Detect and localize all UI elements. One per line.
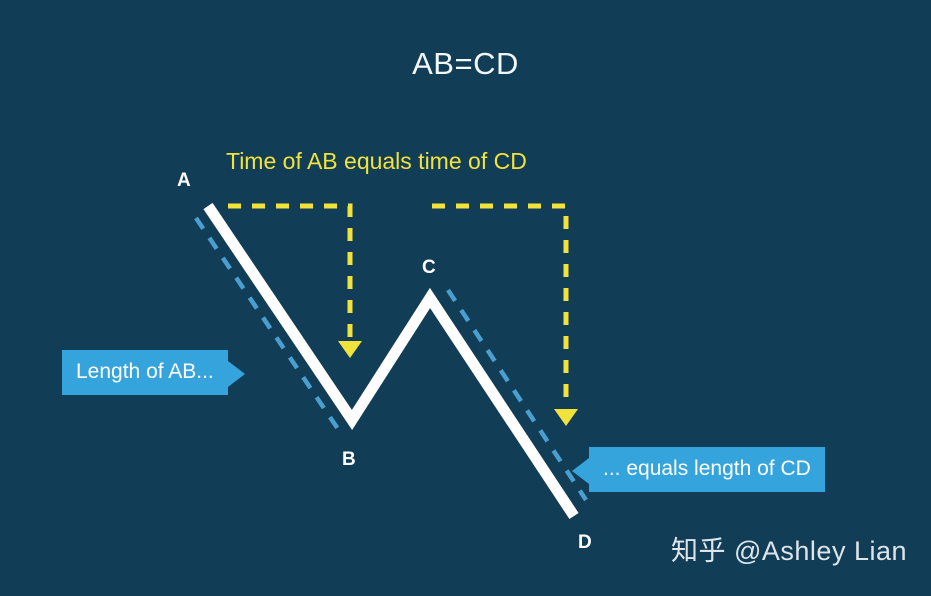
time-equality-note: Time of AB equals time of CD [226, 148, 527, 175]
callout-right-label: ... equals length of CD [603, 457, 811, 480]
point-label-a: A [177, 171, 191, 190]
page-title: AB=CD [0, 46, 931, 82]
callout-right-tail-icon [572, 458, 589, 484]
diagram-canvas: AB=CD Time of AB equals time of CD A B C… [0, 0, 931, 596]
callout-length-of-cd: ... equals length of CD [589, 447, 825, 492]
price-line-path [208, 206, 574, 516]
time-guide-cd [432, 206, 578, 426]
abcd-pattern-graphic [0, 0, 931, 596]
point-label-c: C [422, 258, 436, 277]
point-label-d: D [578, 533, 592, 552]
point-label-b: B [342, 450, 356, 469]
measure-guide-ab-dash [196, 218, 340, 432]
callout-left-label: Length of AB... [76, 360, 214, 383]
callout-length-of-ab: Length of AB... [62, 350, 228, 395]
callout-left-tail-icon [228, 361, 245, 387]
watermark-attribution: 知乎 @Ashley Lian [671, 529, 907, 568]
